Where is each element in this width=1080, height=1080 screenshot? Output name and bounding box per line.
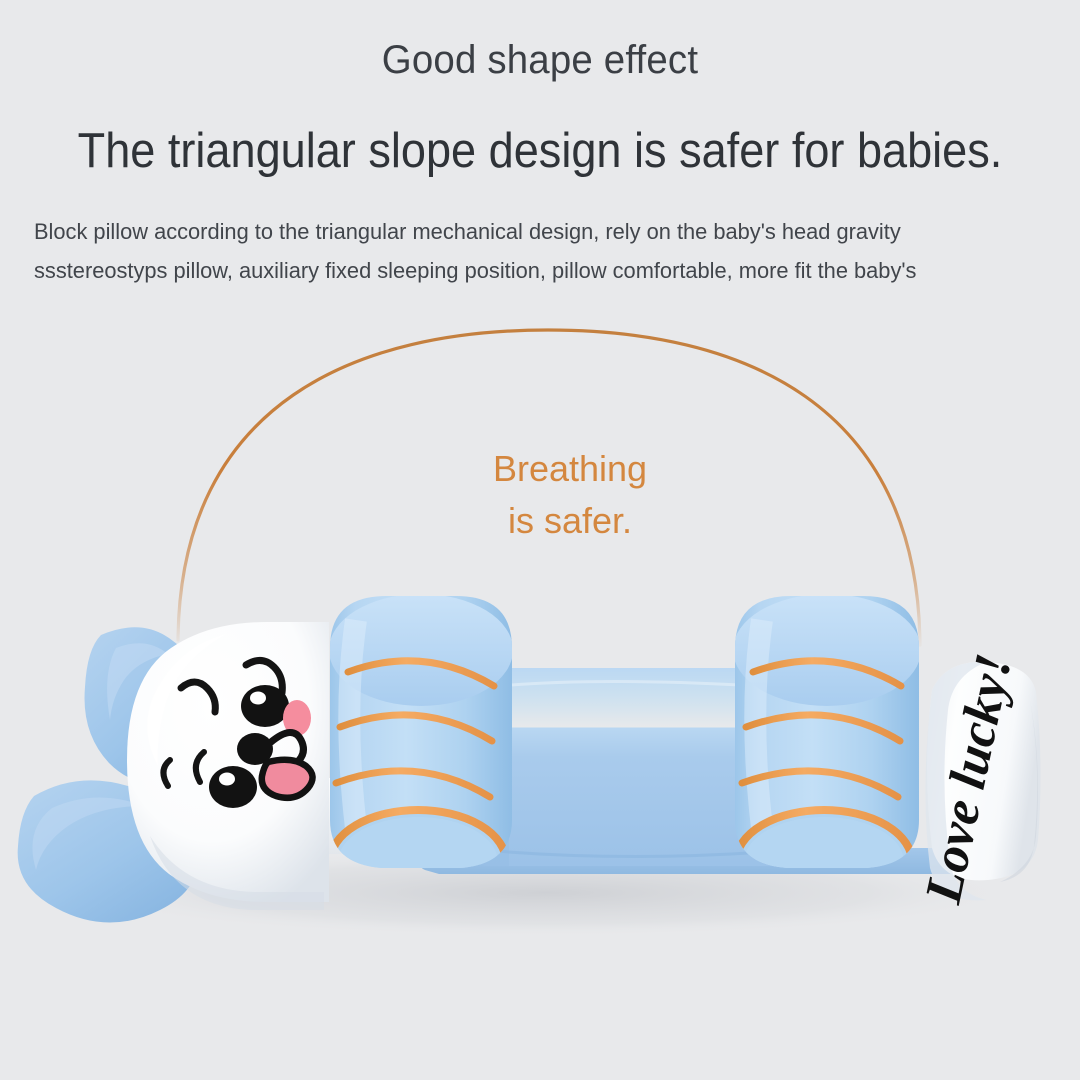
- eye-upper: [241, 685, 289, 727]
- eye-lower: [209, 766, 257, 808]
- product-illustration: Love lucky!: [0, 0, 1080, 1080]
- product-marketing-image: Good shape effect The triangular slope d…: [0, 0, 1080, 1080]
